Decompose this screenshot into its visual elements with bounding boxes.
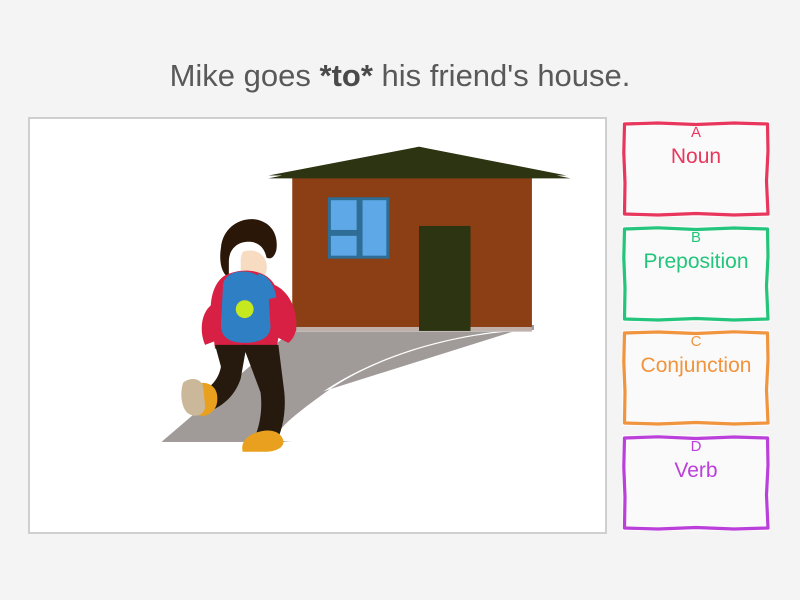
question-text-before: Mike goes (170, 58, 320, 93)
question-text-after: his friend's house. (373, 58, 631, 93)
answer-d-letter: D (691, 437, 702, 456)
backpack-badge-icon (236, 300, 254, 318)
answer-options-list: A Noun B Preposition C Conjunction D Ver… (622, 121, 770, 531)
answer-option-a[interactable]: A Noun (622, 121, 770, 217)
window-pane-right (363, 200, 387, 255)
window-pane-bottom-left (331, 236, 357, 256)
question-highlight-word: *to* (320, 58, 373, 93)
answer-b-letter: B (691, 228, 701, 247)
answer-c-letter: C (691, 332, 702, 351)
answer-option-b[interactable]: B Preposition (622, 226, 770, 322)
answer-a-letter: A (691, 123, 701, 142)
window-pane-top-left (331, 200, 357, 230)
answer-option-d[interactable]: D Verb (622, 435, 770, 531)
house-door (419, 226, 471, 331)
question-prompt: Mike goes *to* his friend's house. (0, 58, 800, 94)
answer-a-label: Noun (671, 143, 721, 170)
answer-b-label: Preposition (643, 248, 748, 275)
answer-c-label: Conjunction (641, 352, 752, 379)
answer-d-label: Verb (674, 457, 717, 484)
question-image-panel (28, 117, 607, 534)
answer-option-c[interactable]: C Conjunction (622, 330, 770, 426)
illustration-boy-walking-to-house (30, 119, 605, 532)
house-shadow (296, 327, 532, 332)
